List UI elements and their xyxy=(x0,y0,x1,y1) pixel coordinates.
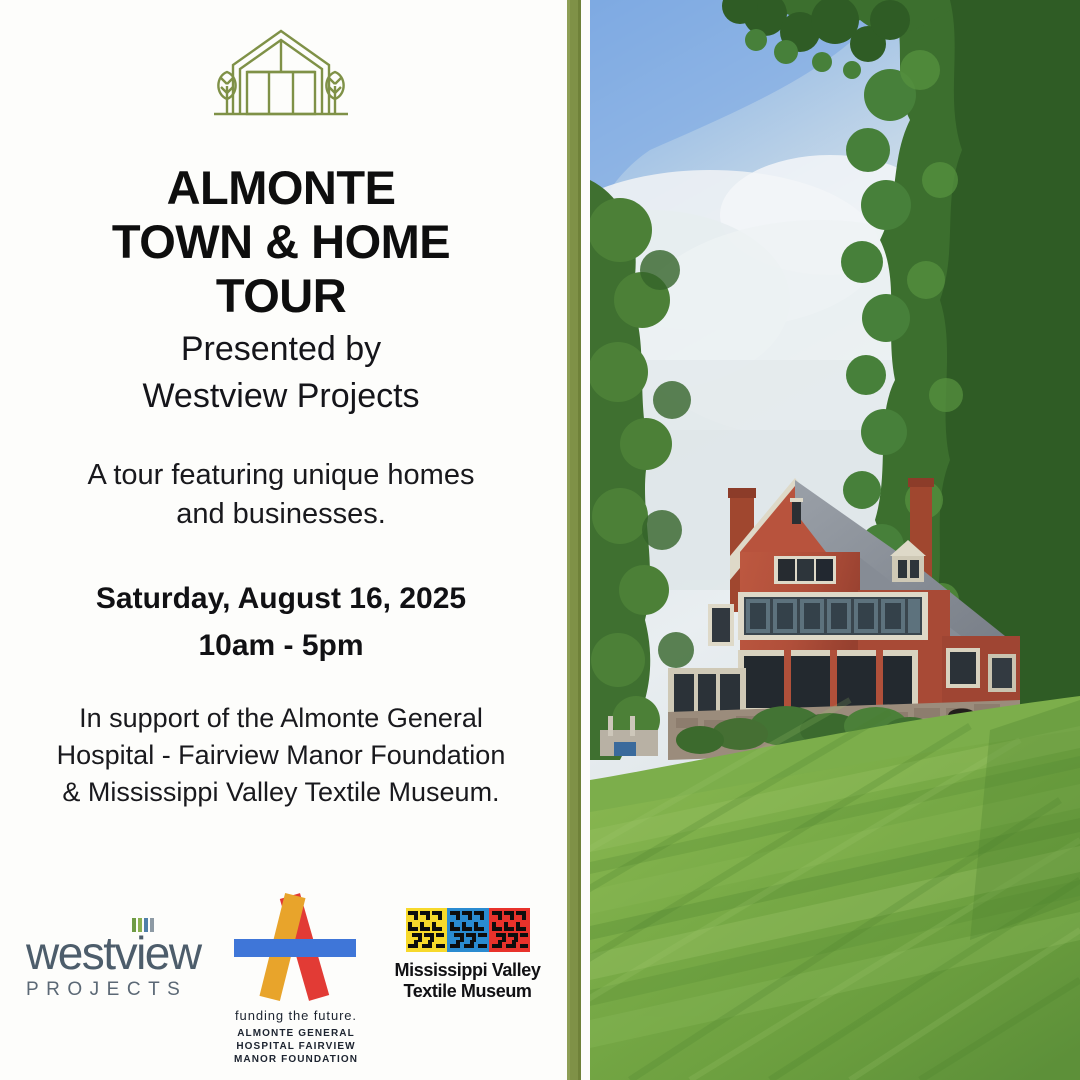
foundation-tagline: funding the future. xyxy=(232,1008,360,1023)
sponsor-logo-row: westview PROJECTS funding the future. xyxy=(0,880,562,1065)
support-line-2: Hospital - Fairview Manor Foundation xyxy=(0,737,562,774)
support-line-3: & Mississippi Valley Textile Museum. xyxy=(0,774,562,811)
page-title: ALMONTE TOWN & HOME TOUR xyxy=(0,161,562,323)
presented-by-label: Presented by xyxy=(0,326,562,373)
foundation-a-mark-icon xyxy=(232,892,360,1002)
westview-projects-logo: westview PROJECTS xyxy=(26,930,206,1001)
foundation-name-line-1: ALMONTE GENERAL xyxy=(232,1027,360,1040)
left-text-panel: ALMONTE TOWN & HOME TOUR Presented by We… xyxy=(0,0,562,1080)
textile-museum-logo: Mississippi Valley Textile Museum xyxy=(385,908,550,1002)
title-line-3: TOUR xyxy=(0,269,562,323)
presented-by-block: Presented by Westview Projects xyxy=(0,326,562,420)
foundation-name-line-2: HOSPITAL FAIRVIEW xyxy=(232,1040,360,1053)
presenter-name: Westview Projects xyxy=(0,373,562,420)
description-line-1: A tour featuring unique homes xyxy=(0,456,562,495)
support-block: In support of the Almonte General Hospit… xyxy=(0,700,562,811)
poster-canvas: ALMONTE TOWN & HOME TOUR Presented by We… xyxy=(0,0,1080,1080)
event-time: 10am - 5pm xyxy=(0,622,562,669)
manor-house-photo xyxy=(590,0,1080,1080)
vertical-divider xyxy=(567,0,581,1080)
event-date: Saturday, August 16, 2025 xyxy=(0,575,562,622)
house-with-trees-icon xyxy=(206,24,356,120)
museum-name-line-2: Textile Museum xyxy=(385,981,550,1002)
description-block: A tour featuring unique homes and busine… xyxy=(0,456,562,534)
description-line-2: and businesses. xyxy=(0,495,562,534)
westview-bars-icon xyxy=(132,918,154,932)
westview-wordmark: westview xyxy=(26,930,201,976)
foundation-name-line-3: MANOR FOUNDATION xyxy=(232,1053,360,1066)
title-line-2: TOWN & HOME xyxy=(0,215,562,269)
datetime-block: Saturday, August 16, 2025 10am - 5pm xyxy=(0,575,562,669)
textile-weave-icon xyxy=(406,908,530,952)
fairview-manor-foundation-logo: funding the future. ALMONTE GENERAL HOSP… xyxy=(232,892,360,1064)
foundation-name: ALMONTE GENERAL HOSPITAL FAIRVIEW MANOR … xyxy=(232,1027,360,1066)
title-line-1: ALMONTE xyxy=(0,161,562,215)
support-line-1: In support of the Almonte General xyxy=(0,700,562,737)
textile-museum-name: Mississippi Valley Textile Museum xyxy=(385,960,550,1002)
westview-subtitle: PROJECTS xyxy=(26,979,206,1001)
museum-name-line-1: Mississippi Valley xyxy=(385,960,550,981)
